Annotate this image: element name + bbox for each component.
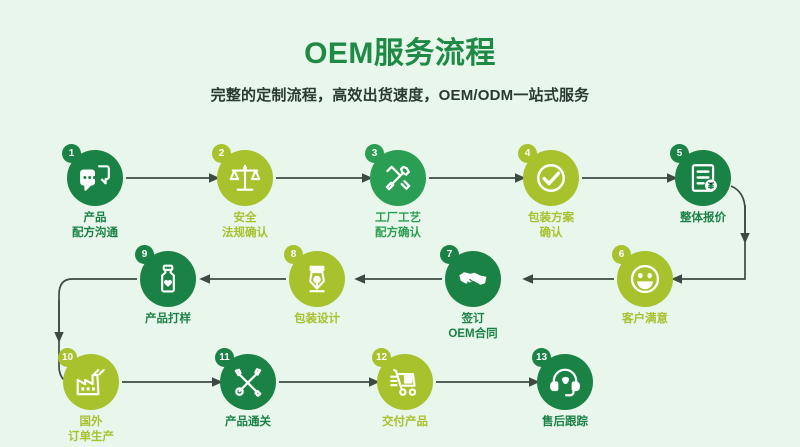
step-number-badge: 9 (135, 245, 154, 264)
step-label: 产品通关 (178, 415, 318, 430)
step-number-badge: 7 (440, 245, 459, 264)
step-label: 工厂工艺 配方确认 (328, 211, 468, 241)
step-label: 交付产品 (335, 415, 475, 430)
step-number-badge: 5 (670, 144, 689, 163)
step-number-badge: 13 (532, 348, 551, 367)
step-number-badge: 1 (62, 144, 81, 163)
step-label: 产品 配方沟通 (25, 211, 165, 241)
step-number-badge: 6 (612, 245, 631, 264)
oem-process-infographic: OEM服务流程 完整的定制流程，高效出货速度，OEM/ODM一站式服务 (0, 0, 800, 447)
step-label: 售后跟踪 (495, 415, 635, 430)
step-label: 产品打样 (98, 312, 238, 327)
step-number-badge: 10 (58, 348, 77, 367)
step-label: 客户满意 (575, 312, 715, 327)
step-number-badge: 12 (372, 348, 391, 367)
step-label: 签订 OEM合同 (403, 312, 543, 342)
step-label: 包装方案 确认 (481, 211, 621, 241)
step-number-badge: 2 (212, 144, 231, 163)
step-number-badge: 3 (365, 144, 384, 163)
step-label: 整体报价 (633, 211, 773, 226)
step-number-badge: 8 (284, 245, 303, 264)
step-label: 包装设计 (247, 312, 387, 327)
step-label: 国外 订单生产 (21, 415, 161, 445)
step-number-badge: 4 (518, 144, 537, 163)
step-label: 安全 法规确认 (175, 211, 315, 241)
step-number-badge: 11 (215, 348, 234, 367)
